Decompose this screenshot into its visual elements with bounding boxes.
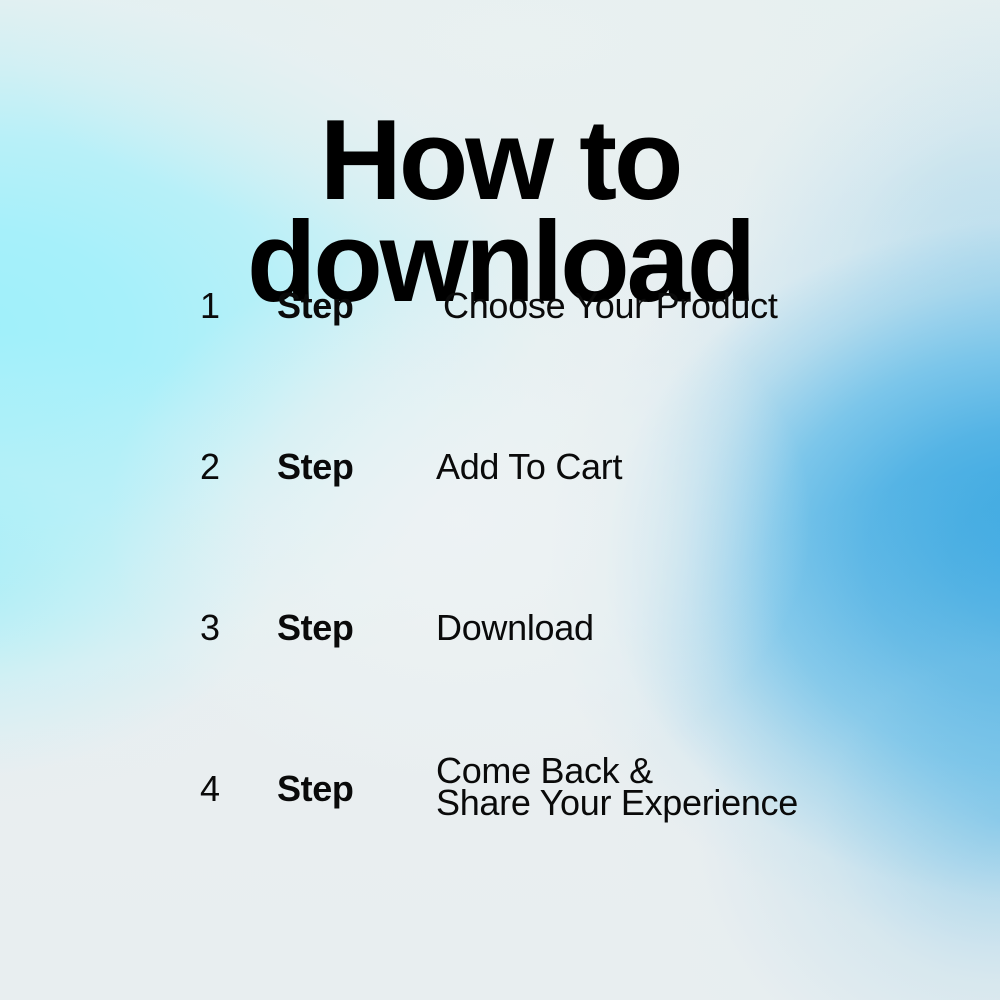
list-item: 3 Step Download (0, 610, 1000, 771)
list-item: 4 Step Come Back & Share Your Experience (0, 771, 1000, 932)
step-description: Download (436, 610, 594, 646)
step-number: 3 (200, 610, 260, 646)
list-item: 2 Step Add To Cart (0, 449, 1000, 610)
poster-content: How to download 1 Step Choose Your Produ… (0, 0, 1000, 1000)
step-label: Step (277, 288, 353, 324)
step-description: Choose Your Product (443, 288, 778, 324)
step-label: Step (277, 610, 353, 646)
step-label: Step (277, 449, 353, 485)
steps-list: 1 Step Choose Your Product 2 Step Add To… (0, 288, 1000, 932)
poster-canvas: How to download 1 Step Choose Your Produ… (0, 0, 1000, 1000)
step-number: 1 (200, 288, 260, 324)
step-description: Come Back & Share Your Experience (436, 755, 798, 818)
step-number: 4 (200, 771, 260, 807)
step-number: 2 (200, 449, 260, 485)
step-description: Add To Cart (436, 449, 622, 485)
page-title: How to download (0, 110, 1000, 313)
step-label: Step (277, 771, 353, 807)
list-item: 1 Step Choose Your Product (0, 288, 1000, 449)
